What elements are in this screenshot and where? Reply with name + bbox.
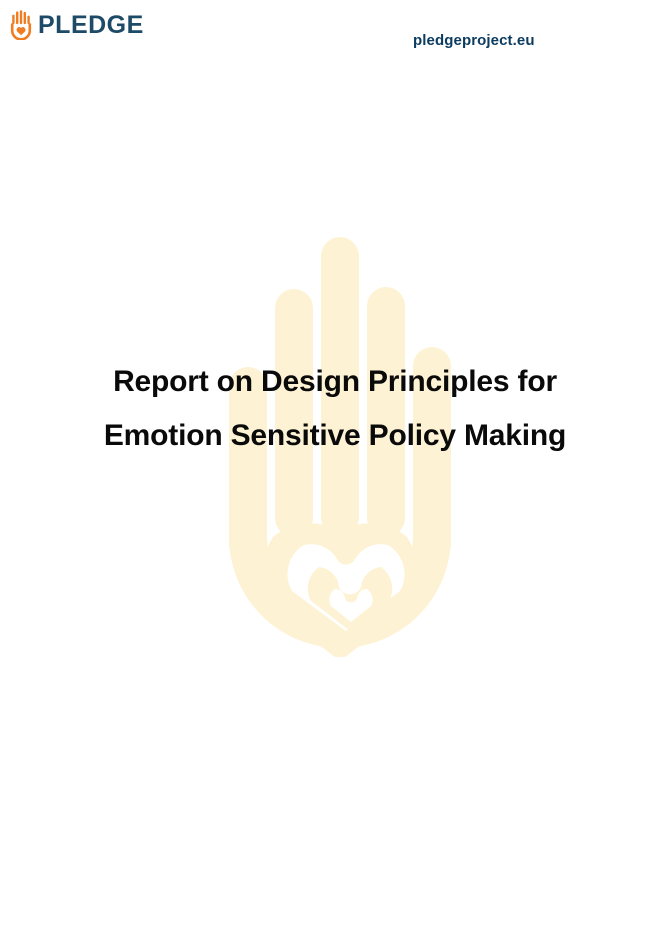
pledge-hand-icon xyxy=(10,10,32,40)
page-title: Report on Design Principles for Emotion … xyxy=(0,355,670,463)
cover-page: PLEDGE pledgeproject.eu xyxy=(0,0,670,931)
page-title-line-1: Report on Design Principles for xyxy=(0,355,670,409)
project-website-url[interactable]: pledgeproject.eu xyxy=(413,32,535,49)
page-title-line-2: Emotion Sensitive Policy Making xyxy=(0,409,670,463)
pledge-wordmark: PLEDGE xyxy=(38,13,144,38)
page-footer: UK Research and Innovation xyxy=(0,861,670,931)
pledge-logo[interactable]: PLEDGE xyxy=(10,10,144,40)
page-header: PLEDGE pledgeproject.eu xyxy=(0,0,670,70)
